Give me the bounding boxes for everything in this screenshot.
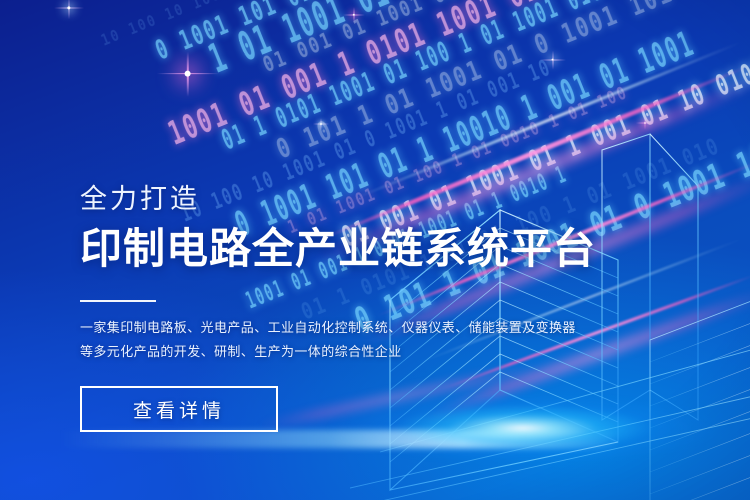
view-details-button[interactable]: 查看详情 <box>80 386 278 432</box>
hero-banner: 10 100 10 1001 01 0 1001 1 01 001 100 10… <box>0 0 750 500</box>
star-sparkle-icon <box>68 7 69 8</box>
hero-headline: 印制电路全产业链系统平台 <box>80 227 600 272</box>
star-sparkle-icon <box>187 73 188 74</box>
hero-description-line-2: 等多元化产品的开发、研制、生产为一体的综合性企业 <box>80 340 600 364</box>
hero-description-line-1: 一家集印制电路板、光电产品、工业自动化控制系统、仪器仪表、储能装置及变换器 <box>80 316 600 340</box>
hero-description: 一家集印制电路板、光电产品、工业自动化控制系统、仪器仪表、储能装置及变换器 等多… <box>80 316 600 364</box>
hero-eyebrow: 全力打造 <box>80 186 600 213</box>
hero-content: 全力打造 印制电路全产业链系统平台 一家集印制电路板、光电产品、工业自动化控制系… <box>80 186 600 432</box>
hero-divider-rule <box>80 300 156 302</box>
